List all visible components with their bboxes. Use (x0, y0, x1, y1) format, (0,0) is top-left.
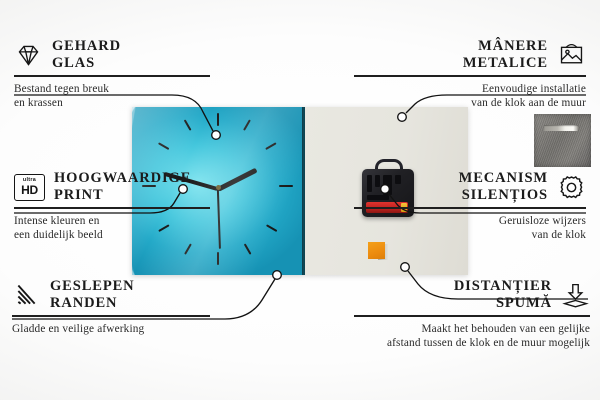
foam-spacer (368, 242, 385, 259)
ultra-hd-icon: ultra HD (14, 174, 45, 201)
clock-tick (279, 185, 293, 187)
callout-title: MECANISM SILENȚIOS (459, 170, 548, 204)
gear-icon (557, 173, 586, 202)
callout-manere-metalice[interactable]: MÂNERE METALICE Eenvoudige installatie v… (354, 38, 586, 111)
callout-divider (354, 315, 590, 316)
clock-tick (158, 142, 169, 149)
infographic-canvas: GEHARD GLAS Bestand tegen breuk en krass… (0, 0, 600, 400)
callout-header: DISTANȚIER SPUMĂ (354, 278, 590, 312)
picture-hanger-icon (557, 41, 586, 70)
clock-tick (217, 113, 219, 126)
ultra-hd-large-text: HD (21, 184, 38, 196)
callout-subtitle-line1: Intense kleuren en (14, 214, 246, 228)
clock-tick (184, 243, 191, 254)
callout-header: GEHARD GLAS (14, 38, 246, 72)
callout-header: GESLEPEN RANDEN (12, 278, 244, 312)
callout-divider (12, 315, 210, 316)
clock-tick (266, 224, 277, 231)
callout-title: DISTANȚIER SPUMĂ (454, 278, 552, 312)
callout-divider (354, 75, 586, 76)
callout-title: HOOGWAARDIGE PRINT (54, 170, 191, 204)
callout-gehard-glas[interactable]: GEHARD GLAS Bestand tegen breuk en krass… (14, 38, 246, 111)
callout-subtitle-line2: van de klok (354, 228, 586, 242)
diamond-icon (14, 41, 43, 70)
callout-subtitle-line1: Bestand tegen breuk (14, 82, 246, 96)
hanger-slot (544, 125, 578, 131)
callout-header: ultra HD HOOGWAARDIGE PRINT (14, 170, 246, 204)
callout-subtitle-line2: van de klok aan de muur (354, 96, 586, 110)
callout-subtitle-line2: afstand tussen de klok en de muur mogeli… (354, 336, 590, 350)
callout-subtitle-line2: een duidelijk beeld (14, 228, 246, 242)
callout-divider (354, 207, 586, 208)
callout-subtitle-line1: Geruisloze wijzers (354, 214, 586, 228)
callout-subtitle-line1: Eenvoudige installatie (354, 82, 586, 96)
metal-hanger-plate (534, 114, 591, 167)
clock-tick (243, 119, 250, 130)
clock-tick (184, 119, 191, 130)
callout-geslepen-randen[interactable]: GESLEPEN RANDEN Gladde en veilige afwerk… (12, 278, 244, 336)
callout-distantier-spuma[interactable]: DISTANȚIER SPUMĂ Maakt het behouden van … (354, 278, 590, 351)
callout-subtitle-line1: Maakt het behouden van een gelijke (354, 322, 590, 336)
callout-subtitle-line2: en krassen (14, 96, 246, 110)
callout-divider (14, 207, 210, 208)
clock-tick (217, 252, 219, 265)
callout-header: MÂNERE METALICE (354, 38, 586, 72)
callout-hoogwaardige-print[interactable]: ultra HD HOOGWAARDIGE PRINT Intense kleu… (14, 170, 246, 243)
clock-tick (244, 243, 251, 254)
callout-subtitle-line1: Gladde en veilige afwerking (12, 322, 244, 336)
callout-title: GESLEPEN RANDEN (50, 278, 135, 312)
callout-mecanism-silentios[interactable]: MECANISM SILENȚIOS Geruisloze wijzers va… (354, 170, 586, 243)
callout-title: MÂNERE METALICE (463, 38, 548, 72)
foam-spacer-icon (561, 281, 590, 310)
clock-tick (265, 142, 276, 149)
callout-divider (14, 75, 210, 76)
callout-title: GEHARD GLAS (52, 38, 121, 72)
callout-header: MECANISM SILENȚIOS (354, 170, 586, 204)
bevelled-edge-icon (12, 281, 41, 310)
